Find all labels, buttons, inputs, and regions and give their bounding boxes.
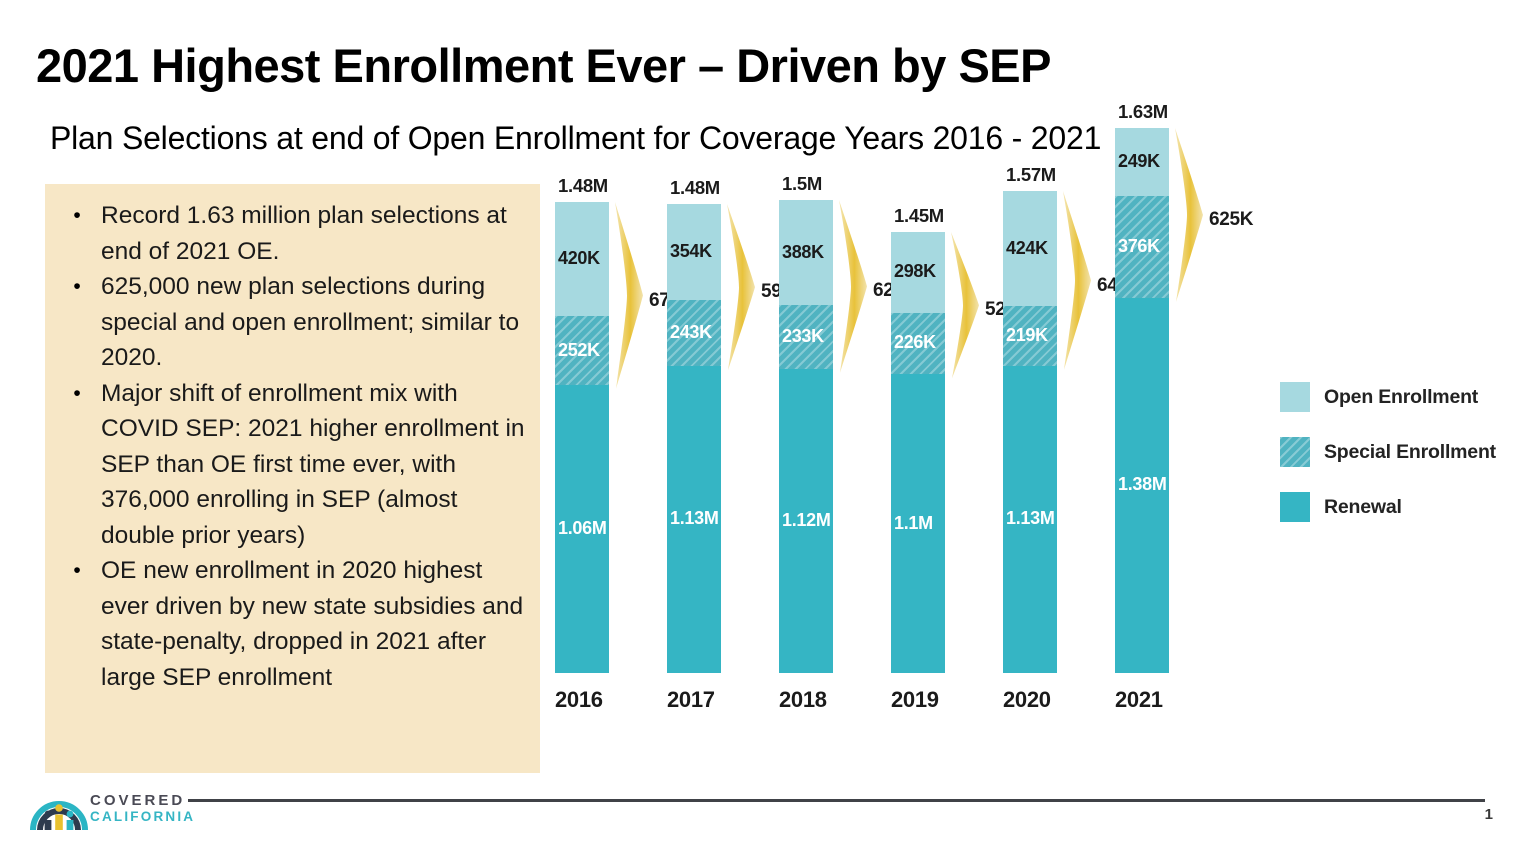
legend-swatch-special-enrollment [1280,437,1310,467]
segment-value-label: 1.06M [558,518,607,539]
legend-item-open-enrollment: Open Enrollment [1280,382,1520,412]
legend-label: Special Enrollment [1324,441,1496,464]
bar-total-label: 1.63M [1118,101,1168,123]
callout-value-2021: 625K [1209,209,1253,231]
bullet-text: 625,000 new plan selections during speci… [101,269,532,376]
segment-value-label: 1.38M [1118,474,1167,495]
segment-value-label: 1.1M [894,513,933,534]
x-axis-label-2020: 2020 [1003,687,1057,713]
segment-value-label: 226K [894,332,936,353]
bullet-text: Record 1.63 million plan selections at e… [101,198,532,269]
segment-value-label: 388K [782,242,824,263]
stacked-bar: 1.63M249K376K1.38M [1115,128,1169,673]
stacked-bar: 1.45M298K226K1.1M [891,232,945,673]
chart-legend: Open Enrollment Special Enrollment Renew… [1280,382,1520,547]
stacked-bar: 1.5M388K233K1.12M [779,200,833,673]
bullet-marker-icon: • [53,553,101,589]
segment-value-label: 420K [558,248,600,269]
x-axis-label-2019: 2019 [891,687,945,713]
stacked-bar: 1.57M424K219K1.13M [1003,191,1057,673]
new-enrollment-callout-2016 [613,200,647,391]
page-subtitle: Plan Selections at end of Open Enrollmen… [50,120,1510,157]
segment-value-label: 243K [670,322,712,343]
bar-column-2021: 1.63M249K376K1.38M2021 [1115,175,1169,735]
stacked-bar: 1.48M420K252K1.06M [555,202,609,673]
bar-total-label: 1.48M [558,175,608,197]
new-enrollment-callout-2019 [949,230,983,380]
segment-value-label: 298K [894,261,936,282]
segment-value-label: 376K [1118,236,1160,257]
legend-item-special-enrollment: Special Enrollment [1280,437,1520,467]
brand-name-top: COVERED [90,793,195,809]
bar-column-2018: 1.5M388K233K1.12M2018 [779,175,833,735]
bar-total-label: 1.57M [1006,164,1056,186]
segment-value-label: 424K [1006,238,1048,259]
bullet-marker-icon: • [53,269,101,305]
segment-special-enrollment: 376K [1115,196,1169,298]
segment-special-enrollment: 219K [1003,306,1057,366]
page-title: 2021 Highest Enrollment Ever – Driven by… [36,38,1486,93]
bar-total-label: 1.45M [894,205,944,227]
segment-special-enrollment: 243K [667,300,721,366]
segment-open-enrollment: 249K [1115,128,1169,196]
segment-renewal: 1.13M [667,366,721,673]
segment-value-label: 219K [1006,325,1048,346]
segment-value-label: 1.13M [670,508,719,529]
bullet-marker-icon: • [53,198,101,234]
new-enrollment-callout-2021 [1173,126,1207,304]
bar-column-2017: 1.48M354K243K1.13M2017 [667,175,721,735]
x-axis-label-2016: 2016 [555,687,609,713]
bar-column-2019: 1.45M298K226K1.1M2019 [891,175,945,735]
segment-value-label: 233K [782,326,824,347]
page-number: 1 [1485,806,1493,823]
footer-divider [188,799,1485,802]
segment-open-enrollment: 298K [891,232,945,313]
bullet-item: • OE new enrollment in 2020 highest ever… [53,553,532,695]
stacked-bar: 1.48M354K243K1.13M [667,204,721,673]
bar-column-2016: 1.48M420K252K1.06M2016 [555,175,609,735]
stacked-bar-chart: 1.48M420K252K1.06M2016672K1.48M354K243K1… [555,175,1315,735]
segment-open-enrollment: 420K [555,202,609,316]
segment-value-label: 354K [670,241,712,262]
legend-label: Renewal [1324,496,1402,519]
segment-special-enrollment: 252K [555,316,609,384]
segment-renewal: 1.06M [555,385,609,673]
segment-open-enrollment: 388K [779,200,833,305]
bullet-item: • Record 1.63 million plan selections at… [53,198,532,269]
segment-value-label: 1.13M [1006,508,1055,529]
bullet-marker-icon: • [53,376,101,412]
segment-open-enrollment: 424K [1003,191,1057,306]
x-axis-label-2021: 2021 [1115,687,1169,713]
bar-total-label: 1.5M [782,173,822,195]
segment-special-enrollment: 233K [779,305,833,368]
segment-value-label: 1.12M [782,510,831,531]
new-enrollment-callout-2017 [725,202,759,372]
legend-swatch-renewal [1280,492,1310,522]
segment-value-label: 252K [558,340,600,361]
legend-item-renewal: Renewal [1280,492,1520,522]
covered-california-wordmark: COVERED CALIFORNIA [90,793,195,824]
segment-value-label: 249K [1118,151,1160,172]
bullet-text: Major shift of enrollment mix with COVID… [101,376,532,554]
bullet-item: • 625,000 new plan selections during spe… [53,269,532,376]
segment-renewal: 1.13M [1003,366,1057,673]
segment-special-enrollment: 226K [891,313,945,374]
new-enrollment-callout-2018 [837,198,871,375]
segment-renewal: 1.12M [779,369,833,673]
segment-renewal: 1.1M [891,374,945,673]
bullet-item: • Major shift of enrollment mix with COV… [53,376,532,554]
segment-renewal: 1.38M [1115,298,1169,673]
x-axis-label-2018: 2018 [779,687,833,713]
brand-name-bottom: CALIFORNIA [90,809,195,824]
bullet-text: OE new enrollment in 2020 highest ever d… [101,553,532,695]
x-axis-label-2017: 2017 [667,687,721,713]
summary-bullets-panel: • Record 1.63 million plan selections at… [45,184,540,773]
segment-open-enrollment: 354K [667,204,721,300]
bar-total-label: 1.48M [670,177,720,199]
legend-swatch-open-enrollment [1280,382,1310,412]
new-enrollment-callout-2020 [1061,189,1095,372]
legend-label: Open Enrollment [1324,386,1478,409]
bar-column-2020: 1.57M424K219K1.13M2020 [1003,175,1057,735]
